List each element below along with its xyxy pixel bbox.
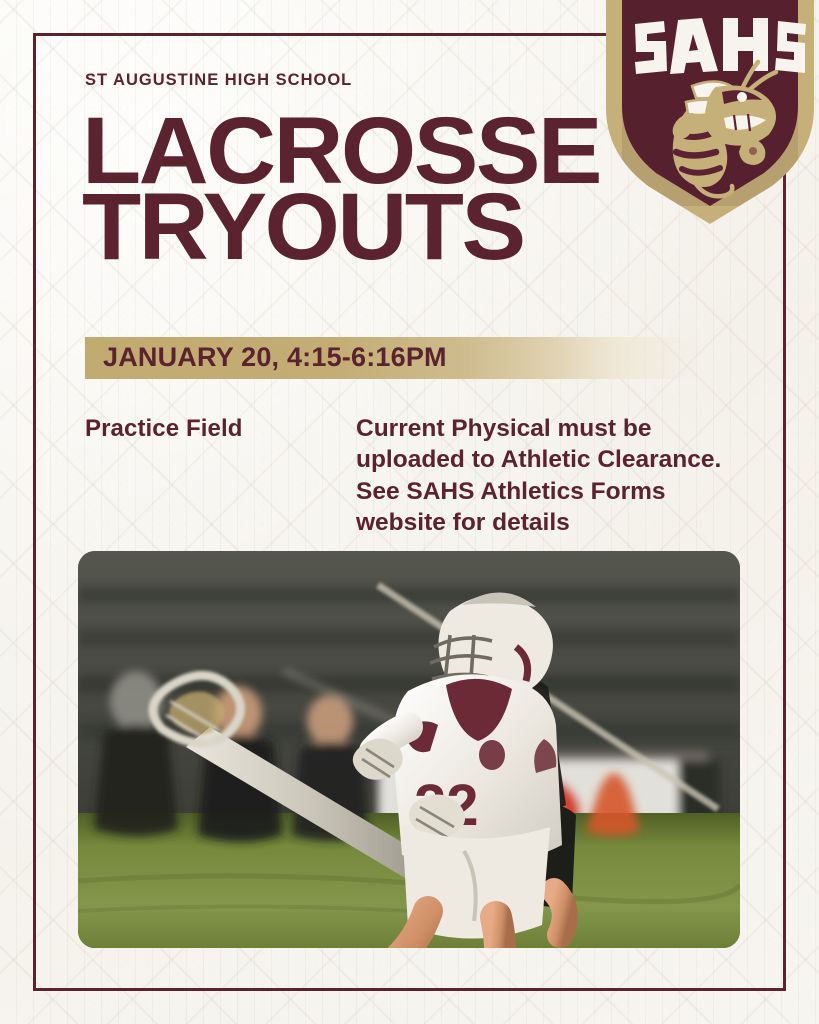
venue-label: Practice Field [85, 415, 242, 443]
date-time-banner: JANUARY 20, 4:15-6:16PM [85, 337, 702, 379]
note-line: Current Physical must be [356, 413, 756, 444]
lacrosse-action-photo: C [78, 551, 740, 948]
poster-canvas: ST AUGUSTINE HIGH SCHOOL LACROSSE TRYOUT… [0, 0, 819, 1024]
date-time-text: JANUARY 20, 4:15-6:16PM [103, 342, 447, 373]
note-line: See SAHS Athletics Forms [356, 476, 756, 507]
note-line: uploaded to Athletic Clearance. [356, 444, 756, 475]
requirements-note: Current Physical must be uploaded to Ath… [356, 413, 756, 538]
page-title: LACROSSE TRYOUTS [82, 113, 653, 265]
note-line: website for details [356, 507, 756, 538]
school-name-kicker: ST AUGUSTINE HIGH SCHOOL [85, 71, 352, 90]
